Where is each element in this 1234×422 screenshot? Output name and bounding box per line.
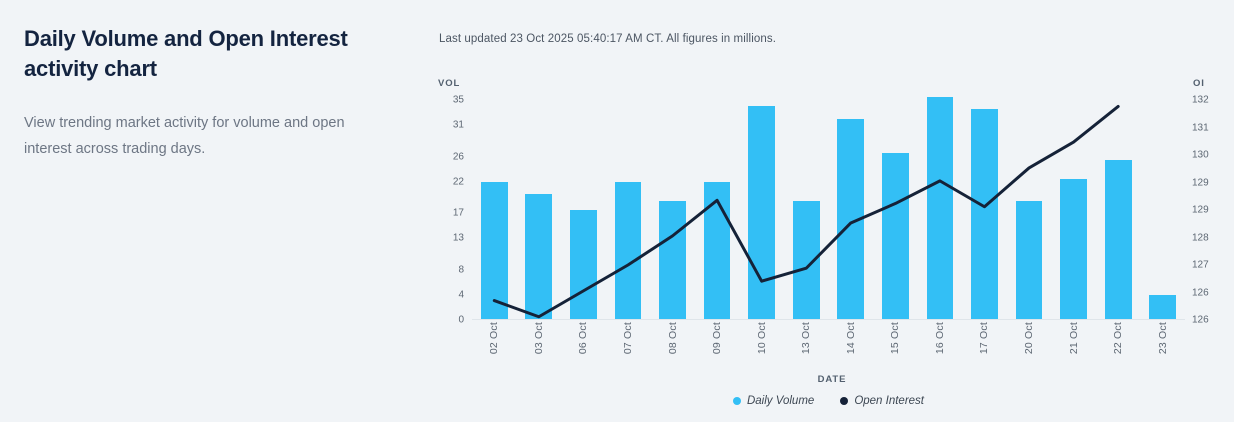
x-axis-tick-label: 14 Oct xyxy=(845,322,857,354)
x-axis-tick: 15 Oct xyxy=(873,322,918,374)
x-axis-tick-label: 17 Oct xyxy=(978,322,990,354)
bar-cell[interactable] xyxy=(517,100,562,320)
x-axis-tick: 17 Oct xyxy=(962,322,1007,374)
x-axis-tick-label: 15 Oct xyxy=(889,322,901,354)
legend-item[interactable]: Daily Volume xyxy=(733,395,814,407)
bar-series xyxy=(472,100,1185,320)
volume-bar[interactable] xyxy=(570,210,597,320)
bar-cell[interactable] xyxy=(784,100,829,320)
left-axis-tick: 35 xyxy=(430,95,464,106)
volume-bar[interactable] xyxy=(1016,201,1043,320)
x-axis-tick-label: 09 Oct xyxy=(711,322,723,354)
legend-item[interactable]: Open Interest xyxy=(840,395,924,407)
left-axis-tick: 13 xyxy=(430,233,464,244)
x-axis-tick: 13 Oct xyxy=(784,322,829,374)
bar-cell[interactable] xyxy=(1051,100,1096,320)
x-axis-tick-label: 02 Oct xyxy=(488,322,500,354)
right-axis-tick: 126 xyxy=(1192,287,1226,298)
chart-page: Daily Volume and Open Interest activity … xyxy=(0,0,1234,422)
x-axis-tick: 10 Oct xyxy=(739,322,784,374)
volume-bar[interactable] xyxy=(927,97,954,320)
x-axis-tick-label: 20 Oct xyxy=(1023,322,1035,354)
bar-cell[interactable] xyxy=(472,100,517,320)
volume-bar[interactable] xyxy=(481,182,508,320)
x-axis-tick-label: 21 Oct xyxy=(1068,322,1080,354)
x-axis-tick: 02 Oct xyxy=(472,322,517,374)
intro-panel: Daily Volume and Open Interest activity … xyxy=(0,0,430,422)
x-axis-tick: 03 Oct xyxy=(517,322,562,374)
volume-bar[interactable] xyxy=(1060,179,1087,320)
right-axis-tick: 128 xyxy=(1192,232,1226,243)
last-updated-text: Last updated 23 Oct 2025 05:40:17 AM CT.… xyxy=(439,33,776,45)
legend-label: Daily Volume xyxy=(747,395,814,407)
x-axis-tick: 16 Oct xyxy=(918,322,963,374)
x-axis-tick: 14 Oct xyxy=(829,322,874,374)
x-axis-title: DATE xyxy=(430,374,1234,385)
x-axis-tick: 09 Oct xyxy=(695,322,740,374)
x-axis-tick: 08 Oct xyxy=(650,322,695,374)
right-axis-tick: 132 xyxy=(1192,95,1226,106)
volume-bar[interactable] xyxy=(615,182,642,320)
volume-bar[interactable] xyxy=(837,119,864,320)
right-axis-tick: 130 xyxy=(1192,150,1226,161)
volume-bar[interactable] xyxy=(704,182,731,320)
x-axis-tick-label: 13 Oct xyxy=(800,322,812,354)
left-axis-tick: 17 xyxy=(430,208,464,219)
x-axis-tick-label: 10 Oct xyxy=(756,322,768,354)
x-axis-tick-label: 08 Oct xyxy=(667,322,679,354)
chart-legend: Daily VolumeOpen Interest xyxy=(472,395,1185,407)
right-axis-tick: 131 xyxy=(1192,122,1226,133)
volume-bar[interactable] xyxy=(882,153,909,320)
bar-cell[interactable] xyxy=(1140,100,1185,320)
bar-cell[interactable] xyxy=(606,100,651,320)
left-axis-tick: 22 xyxy=(430,176,464,187)
plot-canvas xyxy=(472,100,1185,320)
volume-bar[interactable] xyxy=(748,106,775,320)
x-axis-tick: 06 Oct xyxy=(561,322,606,374)
bar-cell[interactable] xyxy=(695,100,740,320)
bar-cell[interactable] xyxy=(829,100,874,320)
volume-bar[interactable] xyxy=(659,201,686,320)
x-axis-tick: 21 Oct xyxy=(1051,322,1096,374)
bar-cell[interactable] xyxy=(739,100,784,320)
x-axis-tick-label: 16 Oct xyxy=(934,322,946,354)
right-axis-tick: 127 xyxy=(1192,260,1226,271)
x-axis-tick-label: 03 Oct xyxy=(533,322,545,354)
x-axis-tick: 23 Oct xyxy=(1140,322,1185,374)
bar-cell[interactable] xyxy=(650,100,695,320)
x-axis-tick-label: 23 Oct xyxy=(1157,322,1169,354)
left-axis-tick: 8 xyxy=(430,264,464,275)
volume-bar[interactable] xyxy=(1105,160,1132,320)
bar-cell[interactable] xyxy=(561,100,606,320)
right-axis-tick: 126 xyxy=(1192,315,1226,326)
left-axis-tick: 26 xyxy=(430,151,464,162)
x-axis-tick-label: 22 Oct xyxy=(1112,322,1124,354)
axis-baseline xyxy=(472,319,1185,320)
bar-cell[interactable] xyxy=(918,100,963,320)
plot-area: VOL OI 048131722263135 12612612712812912… xyxy=(430,70,1234,370)
chart-panel: Last updated 23 Oct 2025 05:40:17 AM CT.… xyxy=(430,0,1234,422)
volume-bar[interactable] xyxy=(971,109,998,320)
right-axis-tick: 129 xyxy=(1192,205,1226,216)
x-axis-tick-label: 06 Oct xyxy=(577,322,589,354)
left-axis-tick: 0 xyxy=(430,315,464,326)
right-axis-title: OI xyxy=(1193,78,1205,89)
volume-bar[interactable] xyxy=(525,194,552,320)
x-axis-labels: 02 Oct03 Oct06 Oct07 Oct08 Oct09 Oct10 O… xyxy=(472,322,1185,374)
x-axis-tick: 07 Oct xyxy=(606,322,651,374)
page-description: View trending market activity for volume… xyxy=(24,110,396,162)
page-title: Daily Volume and Open Interest activity … xyxy=(24,24,394,84)
x-axis-tick-label: 07 Oct xyxy=(622,322,634,354)
bar-cell[interactable] xyxy=(962,100,1007,320)
volume-bar[interactable] xyxy=(1149,295,1176,320)
legend-marker-circle-icon xyxy=(733,397,741,405)
volume-bar[interactable] xyxy=(793,201,820,320)
bar-cell[interactable] xyxy=(1096,100,1141,320)
right-axis-tick: 129 xyxy=(1192,177,1226,188)
x-axis-tick: 22 Oct xyxy=(1096,322,1141,374)
bar-cell[interactable] xyxy=(1007,100,1052,320)
legend-label: Open Interest xyxy=(854,395,924,407)
x-axis-tick: 20 Oct xyxy=(1007,322,1052,374)
left-axis-tick: 4 xyxy=(430,289,464,300)
left-axis-title: VOL xyxy=(438,78,460,89)
legend-marker-circle-icon xyxy=(840,397,848,405)
bar-cell[interactable] xyxy=(873,100,918,320)
left-axis-tick: 31 xyxy=(430,120,464,131)
